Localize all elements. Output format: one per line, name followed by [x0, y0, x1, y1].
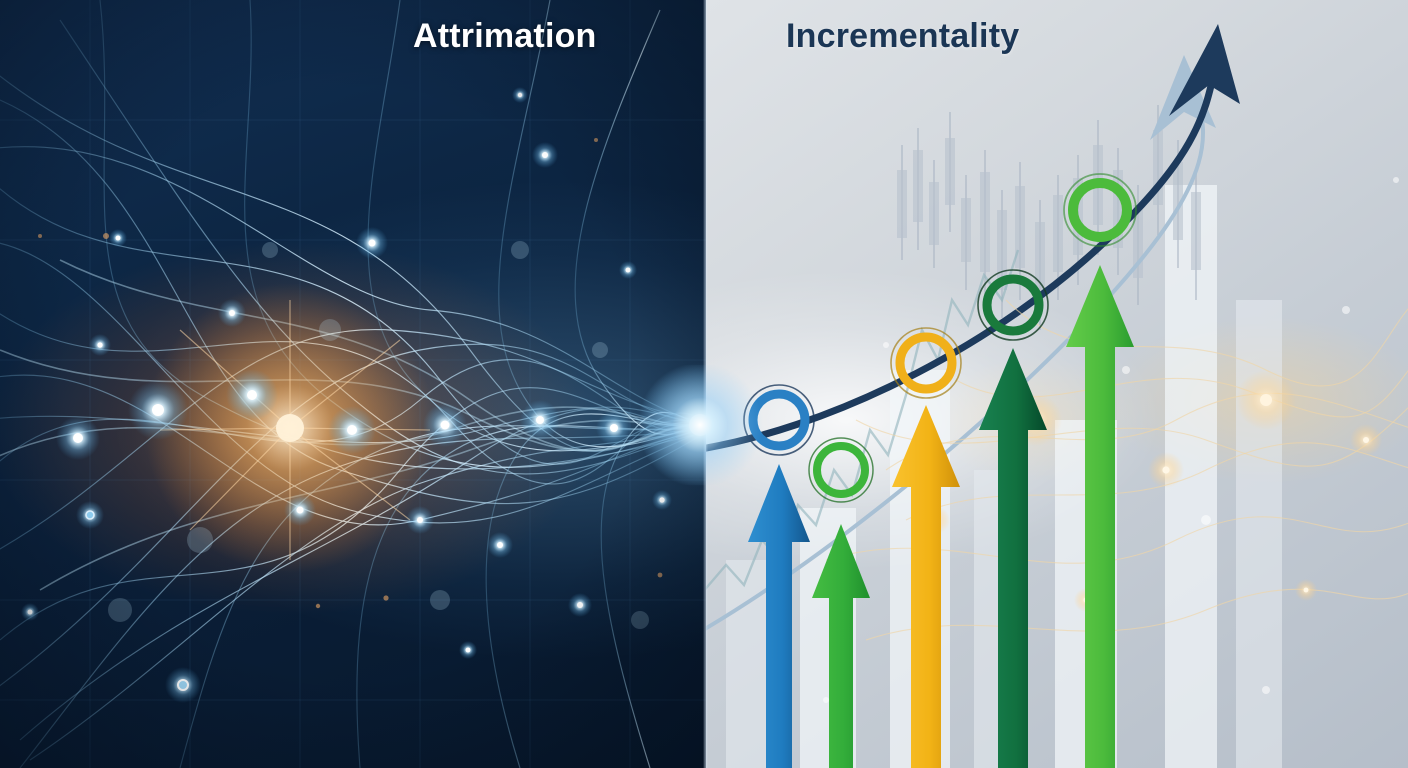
orange-core: [276, 414, 304, 442]
incrementality-growth-panel: [706, 0, 1408, 768]
faint-candlestick-chart: [897, 105, 1201, 330]
network-graphic: [0, 0, 706, 768]
comparison-infographic: Attrimation Incrementality: [0, 0, 1408, 768]
blue-ring: [753, 394, 805, 446]
attribution-network-panel: [0, 0, 706, 768]
page-title-incrementality: Incrementality: [786, 17, 1019, 56]
page-title-attrimation: Attrimation: [413, 17, 597, 56]
growth-graphic: [706, 0, 1408, 768]
